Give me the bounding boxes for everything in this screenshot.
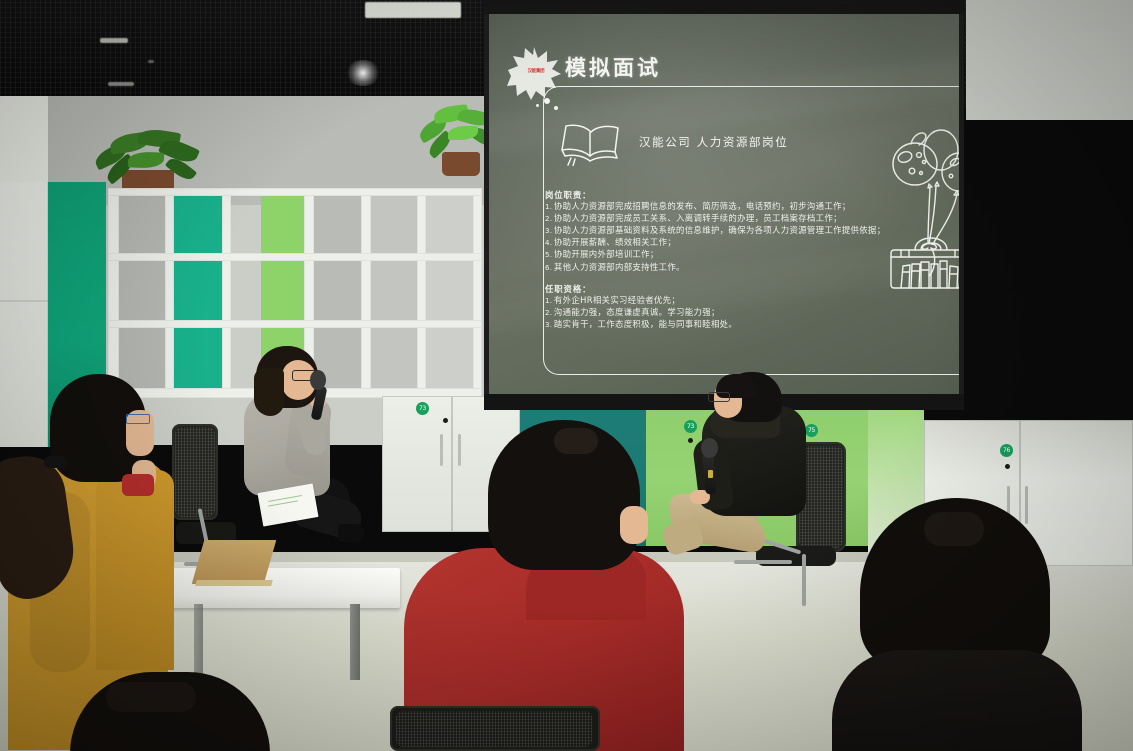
ceiling-downlight: [345, 60, 381, 86]
shelf-back-grey-1: [118, 192, 166, 392]
item-text: 协助开展内外部培训工作；: [554, 249, 659, 259]
slide-content-card-border: [543, 86, 959, 375]
projected-slide: 汉能集团 模拟面试: [489, 14, 959, 394]
ceiling-light-strip-2: [108, 82, 134, 86]
cabinet-number-badge: 76: [1000, 444, 1013, 457]
responsibilities-heading: 岗位职责：: [545, 190, 959, 201]
shelf-back-teal: [172, 192, 224, 392]
list-item: 2.沟通能力强，态度谦虚真诚。学习能力强；: [545, 307, 959, 319]
photo-scene: 73 73 74 75 76: [0, 0, 1133, 751]
list-item: 3.协助人力资源部基础资料及系统的信息维护，确保为各项人力资源管理工作提供依据；: [545, 225, 959, 237]
attendee-foreground-left: [70, 672, 280, 751]
list-item: 1.有外企HR相关实习经验者优先；: [545, 295, 959, 307]
list-item: 1.协助人力资源部完成招聘信息的发布、简历筛选，电话预约，初步沟通工作；: [545, 201, 959, 213]
item-number: 2.: [545, 309, 552, 317]
microphone-head: [310, 370, 326, 390]
screen-top-bar: [484, 0, 964, 14]
wall-panel-seam: [0, 300, 48, 302]
item-text: 其他人力资源部内部支持性工作。: [554, 262, 685, 272]
item-number: 5.: [545, 251, 552, 259]
list-item: 3.踏实肯干，工作态度积极，能与同事和睦相处。: [545, 319, 959, 331]
microphone-head: [701, 438, 718, 458]
item-text: 协助人力资源部完成员工关系、入离调转手续的办理，员工档案存档工作；: [554, 213, 842, 223]
slide-body-text: 岗位职责： 1.协助人力资源部完成招聘信息的发布、简历筛选，电话预约，初步沟通工…: [545, 190, 959, 331]
item-text: 沟通能力强，态度谦虚真诚。学习能力强；: [554, 307, 720, 317]
list-item: 5.协助开展内外部培训工作；: [545, 249, 959, 261]
list-item: 2.协助人力资源部完成员工关系、入离调转手续的办理，员工档案存档工作；: [545, 213, 959, 225]
item-text: 协助人力资源部基础资料及系统的信息维护，确保为各项人力资源管理工作提供依据；: [554, 225, 886, 235]
item-number: 1.: [545, 203, 552, 211]
ceiling-light-strip-1: [100, 38, 128, 43]
projection-screen: 汉能集团 模拟面试: [484, 0, 964, 410]
attendee-foreground-right: [832, 498, 1082, 751]
right-wall-upper: [966, 0, 1133, 120]
starburst-badge-icon: 汉能集团: [507, 46, 561, 100]
item-number: 4.: [545, 239, 552, 247]
item-number: 3.: [545, 227, 552, 235]
slide-title: 模拟面试: [565, 52, 661, 82]
item-number: 3.: [545, 321, 552, 329]
ceiling-light-panel: [365, 2, 461, 18]
item-number: 6.: [545, 264, 552, 272]
list-item: 6.其他人力资源部内部支持性工作。: [545, 262, 959, 274]
item-number: 2.: [545, 215, 552, 223]
item-text: 协助开展薪酬、绩效相关工作；: [554, 237, 676, 247]
item-text: 协助人力资源部完成招聘信息的发布、简历筛选，电话预约，初步沟通工作；: [554, 201, 851, 211]
qualifications-heading: 任职资格：: [545, 284, 959, 295]
slide-section-header: 汉能公司 人力资源部岗位: [639, 134, 788, 150]
slide-content: 汉能集团 模拟面试: [489, 14, 959, 394]
cabinet-number-badge: 73: [416, 402, 429, 415]
open-book-icon: [559, 120, 623, 166]
cabinet-lock-dot: [1005, 464, 1010, 469]
item-number: 1.: [545, 297, 552, 305]
attendee-red-shirt: [404, 420, 694, 751]
suitcase-with-books-and-balloons-icon: [879, 124, 959, 284]
list-item: 4.协助开展薪酬、绩效相关工作；: [545, 237, 959, 249]
open-notebook: [192, 540, 277, 584]
ceiling-spot-small: [148, 60, 154, 63]
shelf-back-grey-4: [425, 192, 475, 392]
chair-foreground: [390, 706, 600, 751]
item-text: 踏实肯干，工作态度积极，能与同事和睦相处。: [554, 319, 737, 329]
starburst-label: 汉能集团: [524, 69, 548, 74]
item-text: 有外企HR相关实习经验者优先；: [554, 295, 680, 305]
